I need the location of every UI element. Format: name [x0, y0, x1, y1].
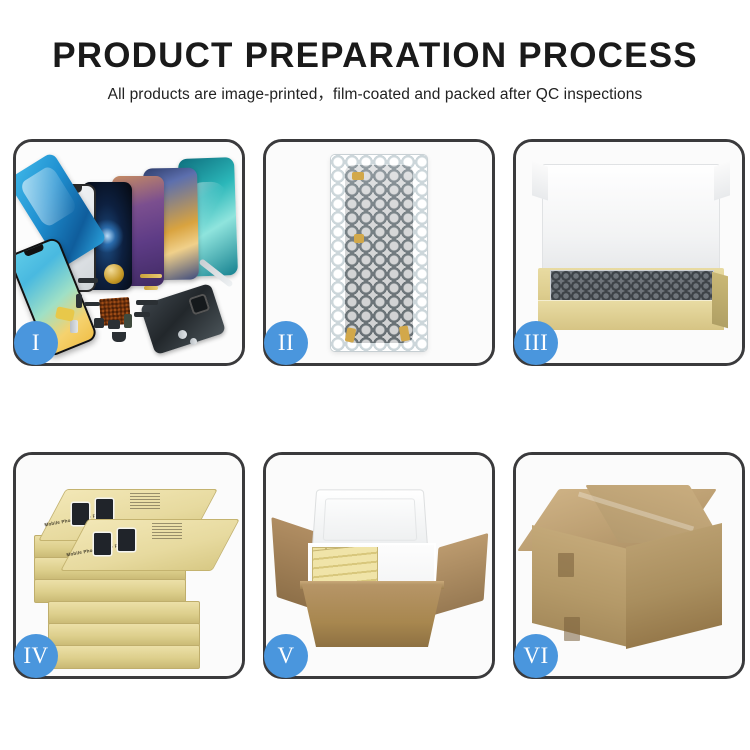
box-spec-lines-back	[130, 493, 160, 511]
step-badge-5: V	[264, 634, 308, 678]
box-art-back-2	[96, 499, 113, 521]
stacked-box-3	[34, 579, 186, 603]
box-stack: Mobile Phone Spare Parts Mobile Phone Sp…	[30, 481, 230, 656]
step-panel-1: I	[13, 139, 245, 366]
part-chip-2	[108, 320, 120, 329]
page-subtitle: All products are image-printed，film-coat…	[0, 87, 750, 103]
phone-back-housing	[140, 283, 226, 355]
carton-flap-right	[434, 533, 488, 615]
box-spec-lines-front	[152, 523, 182, 541]
stacked-box-4	[48, 601, 200, 625]
carton-tab-lower	[564, 617, 580, 641]
step-badge-4: IV	[14, 634, 58, 678]
screw-2	[190, 338, 197, 345]
step-badge-6: VI	[514, 634, 558, 678]
step-panel-4: Mobile Phone Spare Parts Mobile Phone Sp…	[13, 452, 245, 679]
step-panel-3: III	[513, 139, 745, 366]
stacked-box-lid-front	[60, 519, 240, 571]
step-panel-2: II	[263, 139, 495, 366]
part-strip-2	[76, 294, 82, 308]
step-badge-1: I	[14, 321, 58, 365]
screw-1	[178, 330, 187, 339]
part-chip-4	[112, 332, 126, 342]
speaker-component	[104, 264, 124, 284]
step-badge-2: II	[264, 321, 308, 365]
carton-tab-upper	[558, 553, 574, 577]
box-side-face	[712, 272, 728, 329]
connector-tab-1	[352, 172, 364, 180]
flex-cable-1	[140, 274, 162, 278]
stacked-box-5	[48, 623, 200, 647]
sim-tray	[124, 314, 132, 328]
box-front-face	[538, 300, 724, 330]
page-title: PRODUCT PREPARATION PROCESS	[0, 38, 750, 73]
carton-body	[302, 585, 442, 647]
part-strip-1	[78, 278, 98, 283]
connector-tab-2	[354, 234, 364, 243]
process-steps-grid: I II III	[13, 139, 725, 679]
stacked-box-6	[48, 645, 200, 669]
flex-cable-2	[144, 286, 158, 290]
step-panel-5: V	[263, 452, 495, 679]
box-white-lid	[542, 164, 720, 284]
bubble-wrap-pouch	[331, 155, 427, 351]
box-art-front-1	[94, 533, 111, 555]
page-header: PRODUCT PREPARATION PROCESS All products…	[0, 0, 750, 103]
step-panel-6: VI	[513, 452, 745, 679]
part-strip-5	[134, 312, 150, 317]
part-strip-3	[84, 302, 100, 306]
box-art-front-2	[118, 529, 135, 551]
part-strip-4	[136, 300, 158, 305]
part-chip-1	[94, 318, 104, 328]
styrofoam-lid	[312, 489, 429, 551]
step-badge-3: III	[514, 321, 558, 365]
box-bubble-filling	[550, 270, 714, 304]
part-chip-3	[70, 320, 78, 333]
